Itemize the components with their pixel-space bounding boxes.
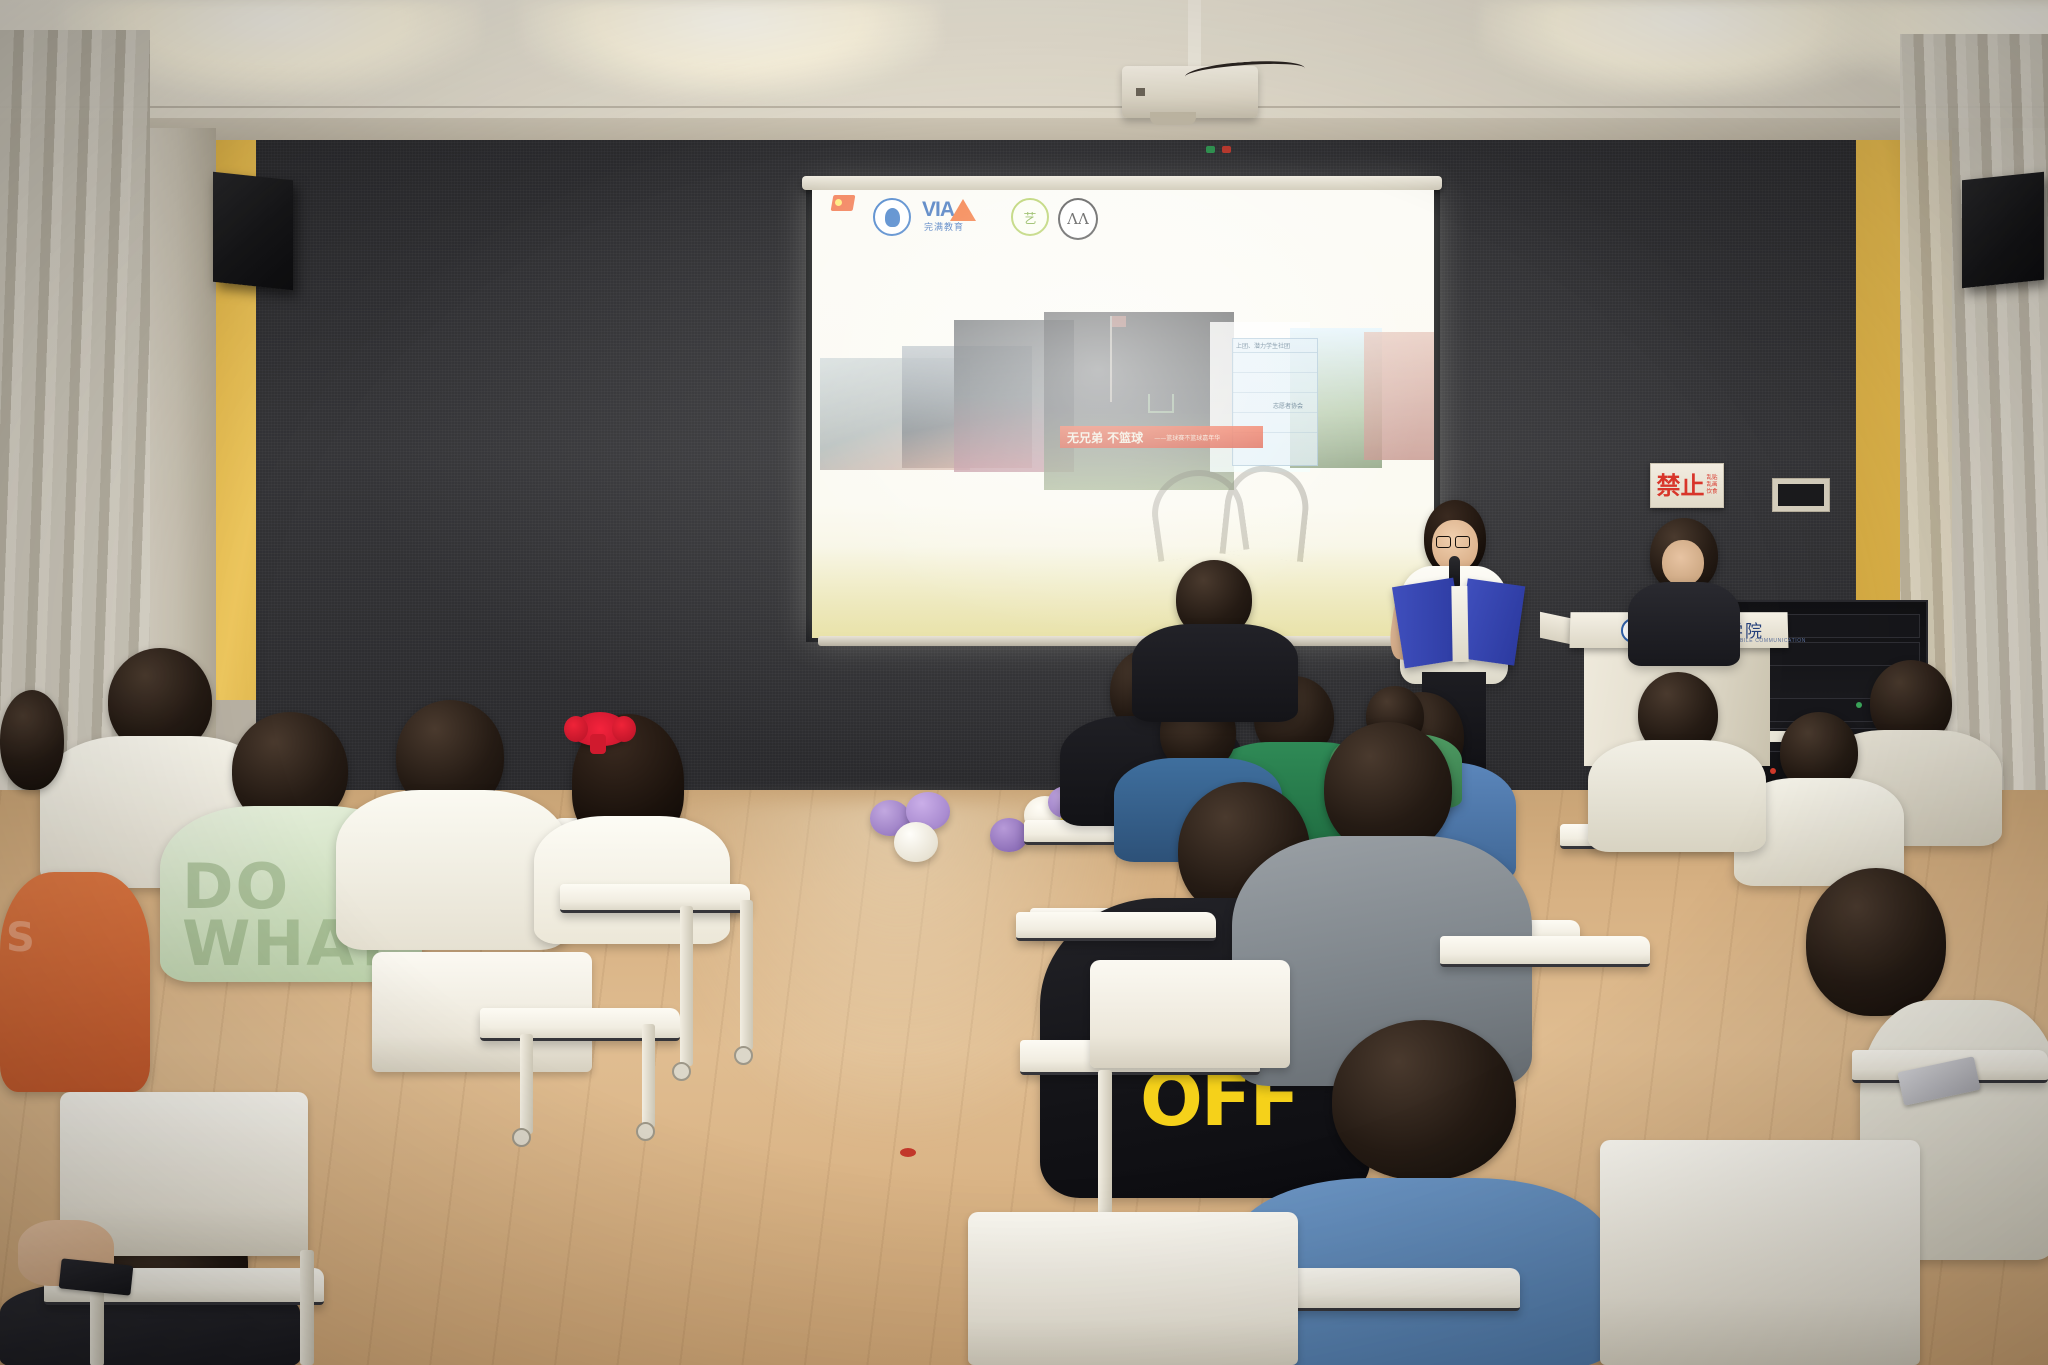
chair-leg <box>300 1250 314 1365</box>
audience-head <box>0 690 64 790</box>
banner-sub-text: ——篮球赛不篮球嘉年华 <box>1154 433 1220 442</box>
via-chinese-text: 完满教育 <box>924 220 964 233</box>
green-circle-logo-icon: 艺 <box>1011 198 1049 236</box>
slide-photo-collage: 上团、潜力学生社团 志愿者协会 无兄弟 不篮球 ——篮球赛不篮球嘉年华 <box>812 300 1434 560</box>
tee-print-text: S <box>6 920 35 957</box>
ceiling-light-glow <box>520 0 940 96</box>
desk-surface[interactable] <box>1016 912 1216 941</box>
glasses-icon <box>1436 536 1470 547</box>
rack-led <box>1770 768 1776 774</box>
desk-leg <box>740 900 753 1050</box>
chair-back[interactable] <box>1600 1140 1920 1365</box>
audience-torso-white <box>1588 740 1766 852</box>
desk-leg <box>680 906 693 1066</box>
projector-led-power <box>1206 146 1215 153</box>
slide-table-cell: 志愿者协会 <box>1273 401 1303 410</box>
projector-led-lamp <box>1222 146 1231 153</box>
red-hair-bow-icon <box>572 712 628 746</box>
folder-paper <box>1451 586 1468 662</box>
chair-back[interactable] <box>968 1212 1298 1365</box>
projector-lens <box>1150 112 1196 125</box>
black-circle-logo-icon: ΛΛ <box>1058 198 1096 236</box>
wall-speaker-left <box>213 172 293 290</box>
national-flag <box>1112 316 1126 327</box>
projector-mount-pole <box>1188 0 1201 70</box>
slide-bottom-glow <box>812 546 1434 638</box>
collage-photo <box>1364 332 1434 460</box>
audience-torso-white <box>534 816 730 944</box>
desk-surface[interactable] <box>1440 936 1650 967</box>
assistant-face <box>1662 540 1704 586</box>
chair-caster <box>734 1046 753 1065</box>
slide-logo-row: VIA 完满教育 艺 ΛΛ <box>826 198 1096 236</box>
desk-surface[interactable] <box>560 884 750 913</box>
chair-caster <box>512 1128 531 1147</box>
chair-back[interactable] <box>1090 960 1290 1068</box>
audience-head <box>1332 1020 1516 1180</box>
ceiling-seam <box>0 106 2048 108</box>
balloon-purple <box>990 818 1028 852</box>
projection-screen[interactable]: VIA 完满教育 艺 ΛΛ 上团、潜力学生社 <box>812 190 1434 638</box>
projector-port <box>1136 88 1145 96</box>
audience-torso-orange: S <box>0 872 150 1092</box>
prohibition-line-3: 饮食 <box>1706 489 1717 496</box>
basketball-hoop-icon <box>1148 394 1174 413</box>
prohibition-sign: 禁止 乱贴 乱画 饮食 <box>1650 463 1724 508</box>
audience-head <box>1324 722 1452 854</box>
audience-torso <box>1132 624 1298 722</box>
flagpole <box>1110 316 1112 402</box>
prohibition-line-2: 乱画 <box>1706 482 1717 489</box>
wall-vent-panel <box>1772 478 1830 512</box>
assistant-top <box>1628 582 1740 666</box>
via-wanman-education-logo-icon: VIA 完满教育 <box>920 198 1002 236</box>
screen-bottom-bar <box>818 636 1438 646</box>
small-red-object <box>900 1148 916 1157</box>
banner-main-text: 无兄弟 不篮球 <box>1067 429 1143 446</box>
communist-youth-league-badge-icon <box>826 198 864 236</box>
wall-speaker-right <box>1962 172 2044 289</box>
audience-head <box>1806 868 1946 1016</box>
classroom-scene: VIA 完满教育 艺 ΛΛ 上团、潜力学生社 <box>0 0 2048 1365</box>
slide-table-header: 上团、潜力学生社团 <box>1233 339 1317 353</box>
chair-caster <box>672 1062 691 1081</box>
chair-caster <box>636 1122 655 1141</box>
desk-leg <box>642 1024 655 1128</box>
balloon-white <box>894 822 938 862</box>
school-emblem-blue-icon <box>873 198 911 236</box>
screen-roller-case <box>802 176 1442 190</box>
slide-background-artwork <box>1142 460 1322 560</box>
desk-leg <box>520 1034 533 1134</box>
rack-led <box>1856 702 1862 708</box>
slide-red-banner: 无兄弟 不篮球 ——篮球赛不篮球嘉年华 <box>1060 426 1263 448</box>
prohibition-sign-main-text: 禁止 <box>1656 474 1704 498</box>
